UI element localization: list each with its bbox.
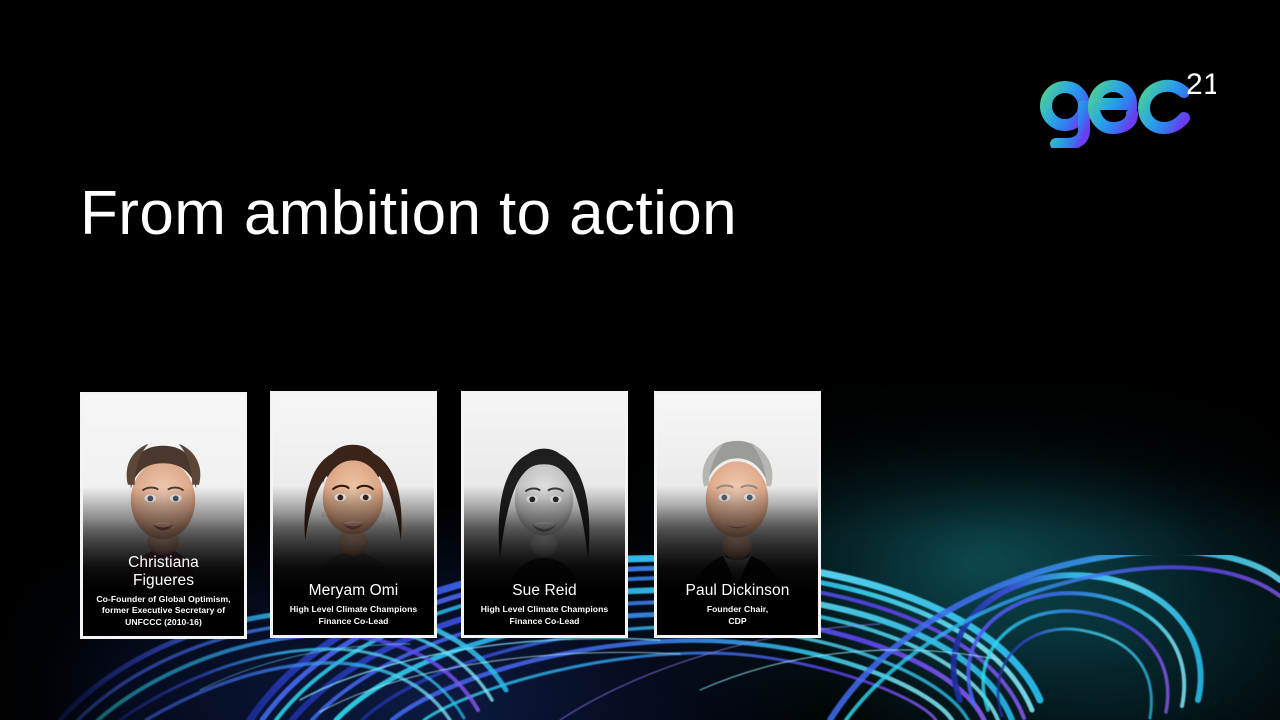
speaker-name: Sue Reid: [469, 582, 620, 599]
gec21-logo: 21: [1036, 62, 1216, 148]
speaker-name: Meryam Omi: [278, 582, 429, 599]
speaker-card[interactable]: Meryam Omi High Level Climate Champions …: [270, 391, 437, 638]
svg-text:21: 21: [1186, 68, 1216, 101]
speaker-name: Christiana Figueres: [88, 554, 239, 589]
speaker-name: Paul Dickinson: [662, 582, 813, 599]
speaker-caption: Meryam Omi High Level Climate Champions …: [273, 582, 434, 627]
speaker-card[interactable]: Paul Dickinson Founder Chair, CDP: [654, 391, 821, 638]
speaker-caption: Sue Reid High Level Climate Champions Fi…: [464, 582, 625, 627]
speaker-role: High Level Climate Champions Finance Co-…: [469, 604, 620, 627]
page-title: From ambition to action: [80, 181, 737, 246]
speaker-role: High Level Climate Champions Finance Co-…: [278, 604, 429, 627]
speaker-role: Co-Founder of Global Optimism, former Ex…: [88, 594, 239, 628]
speaker-caption: Paul Dickinson Founder Chair, CDP: [657, 582, 818, 627]
speaker-caption: Christiana Figueres Co-Founder of Global…: [83, 554, 244, 628]
presentation-slide: 21 From ambition to action: [0, 0, 1280, 720]
speaker-card[interactable]: Christiana Figueres Co-Founder of Global…: [80, 392, 247, 639]
speaker-role: Founder Chair, CDP: [662, 604, 813, 627]
speaker-card[interactable]: Sue Reid High Level Climate Champions Fi…: [461, 391, 628, 638]
